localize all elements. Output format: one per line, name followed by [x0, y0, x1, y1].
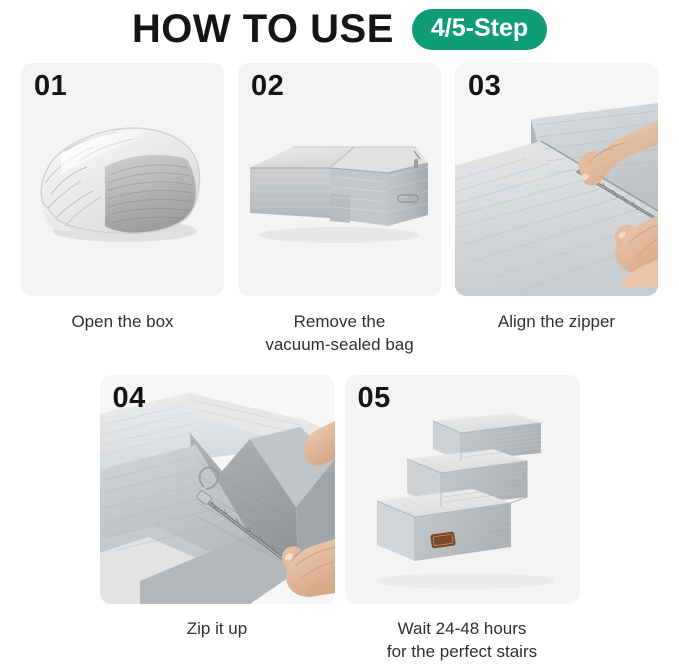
step-caption-04: Zip it up — [187, 617, 247, 640]
step-caption-02: Remove the vacuum-sealed bag — [265, 310, 413, 357]
step-card-02: 02 — [238, 63, 441, 357]
step-number-02: 02 — [251, 72, 284, 101]
step-image-card-04: 04 — [100, 375, 335, 604]
step-image-card-01: 01 — [21, 63, 224, 296]
status-badge: 4/5-Step — [412, 9, 547, 50]
page-title: HOW TO USE — [132, 9, 394, 49]
header: HOW TO USE 4/5-Step — [0, 0, 679, 56]
steps-row-top: 01 — [0, 56, 679, 357]
step-number-04: 04 — [113, 384, 146, 413]
step-card-05: 05 — [345, 375, 580, 664]
step-card-04: 04 — [100, 375, 335, 664]
step-caption-05: Wait 24-48 hours for the perfect stairs — [387, 617, 537, 664]
step-number-01: 01 — [34, 72, 67, 101]
step-caption-03: Align the zipper — [498, 310, 615, 333]
step-number-03: 03 — [468, 72, 501, 101]
step-image-card-03: 03 — [455, 63, 658, 296]
step-number-05: 05 — [358, 384, 391, 413]
steps-row-bottom: 04 — [0, 357, 679, 664]
step-caption-01: Open the box — [71, 310, 173, 333]
step-image-card-02: 02 — [238, 63, 441, 296]
step-card-01: 01 — [21, 63, 224, 357]
step-image-card-05: 05 — [345, 375, 580, 604]
step-card-03: 03 — [455, 63, 658, 357]
